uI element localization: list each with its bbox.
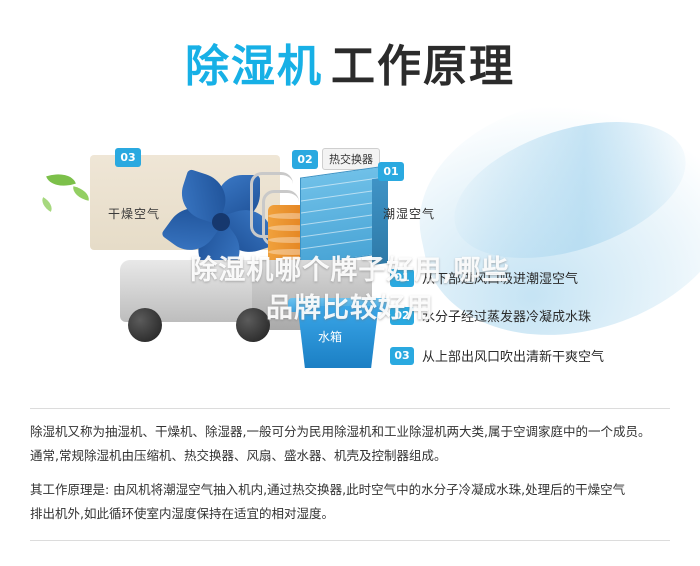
leaf-icon — [46, 168, 76, 191]
body-paragraph-1: 除湿机又称为抽湿机、干燥机、除湿器,一般可分为民用除湿机和工业除湿机两大类,属于… — [30, 420, 675, 468]
step-item-01: 01从下部进风口吸进潮湿空气 — [390, 268, 578, 287]
step-text-03: 从上部出风口吹出清新干爽空气 — [422, 350, 604, 365]
divider-top — [30, 408, 670, 409]
working-principle-diagram: 03 干燥空气 02 热交换器 — [0, 110, 700, 400]
body-paragraph-1-line-2: 通常,常规除湿机由压缩机、热交换器、风扇、盛水器、机壳及控制器组成。 — [30, 444, 675, 468]
poster-root: 除湿机工作原理 03 干燥空气 02 — [0, 0, 700, 566]
body-paragraph-1-line-1: 除湿机又称为抽湿机、干燥机、除湿器,一般可分为民用除湿机和工业除湿机两大类,属于… — [30, 420, 675, 444]
water-tank-label: 水箱 — [318, 328, 342, 345]
page-title-rest: 工作原理 — [331, 41, 515, 92]
page-title-highlight: 除湿机 — [185, 41, 323, 92]
step-number-02: 02 — [390, 307, 414, 325]
page-title: 除湿机工作原理 — [0, 30, 700, 94]
dry-air-label: 干燥空气 — [108, 205, 160, 222]
body-paragraph-2: 其工作原理是: 由风机将潮湿空气抽入机内,通过热交换器,此时空气中的水分子冷凝成… — [30, 478, 675, 526]
heat-exchanger-block — [300, 166, 380, 265]
badge-03: 03 — [115, 148, 141, 167]
body-paragraph-2-line-2: 排出机外,如此循环使室内湿度保持在适宜的相对湿度。 — [30, 502, 675, 526]
wheel-icon — [236, 308, 270, 342]
badge-02: 02 — [292, 150, 318, 169]
leaf-icon — [39, 197, 56, 212]
badge-01: 01 — [378, 162, 404, 181]
wheel-icon — [128, 308, 162, 342]
body-paragraph-2-line-1: 其工作原理是: 由风机将潮湿空气抽入机内,通过热交换器,此时空气中的水分子冷凝成… — [30, 478, 675, 502]
step-number-03: 03 — [390, 347, 414, 365]
step-item-03: 03从上部出风口吹出清新干爽空气 — [390, 346, 604, 365]
step-item-02: 02水分子经过蒸发器冷凝成水珠 — [390, 306, 591, 325]
step-number-01: 01 — [390, 269, 414, 287]
step-text-01: 从下部进风口吸进潮湿空气 — [422, 272, 578, 287]
step-text-02: 水分子经过蒸发器冷凝成水珠 — [422, 310, 591, 325]
wet-air-label: 潮湿空气 — [383, 205, 435, 222]
divider-bottom — [30, 540, 670, 541]
leaf-icon — [71, 186, 91, 201]
